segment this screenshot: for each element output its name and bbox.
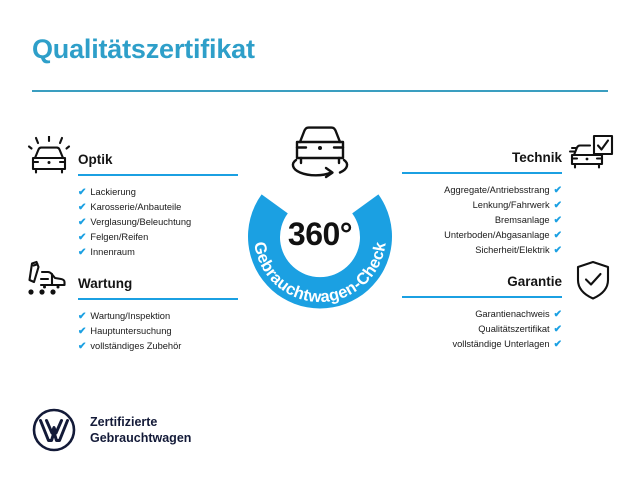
list-item: Bremsanlage✔ bbox=[402, 213, 562, 228]
check-icon: ✔ bbox=[78, 339, 86, 354]
list-item-label: Qualitätszertifikat bbox=[478, 324, 549, 334]
list-item-label: Felgen/Reifen bbox=[90, 232, 148, 242]
service-pen-car-icon bbox=[24, 260, 70, 302]
list-item: Unterboden/Abgasanlage✔ bbox=[402, 228, 562, 243]
list-item: ✔vollständiges Zubehör bbox=[78, 339, 238, 354]
section-title-garantie: Garantie bbox=[402, 274, 562, 290]
section-list-optik: ✔Lackierung ✔Karosserie/Anbauteile ✔Verg… bbox=[78, 185, 238, 260]
list-item: vollständige Unterlagen✔ bbox=[402, 337, 562, 352]
footer-brand: Zertifizierte Gebrauchtwagen bbox=[32, 408, 191, 452]
list-item: Lenkung/Fahrwerk✔ bbox=[402, 198, 562, 213]
list-item: ✔Felgen/Reifen bbox=[78, 230, 238, 245]
check-icon: ✔ bbox=[554, 213, 562, 228]
section-title-optik: Optik bbox=[78, 152, 238, 168]
section-wartung: Wartung ✔Wartung/Inspektion ✔Hauptunters… bbox=[78, 276, 238, 354]
list-item-label: vollständiges Zubehör bbox=[90, 341, 181, 351]
footer-text: Zertifizierte Gebrauchtwagen bbox=[90, 414, 191, 446]
list-item-label: Sicherheit/Elektrik bbox=[475, 245, 549, 255]
check-icon: ✔ bbox=[554, 337, 562, 352]
car-rotation-360-icon bbox=[283, 120, 357, 182]
list-item: Sicherheit/Elektrik✔ bbox=[402, 243, 562, 258]
section-rule-technik bbox=[402, 172, 562, 174]
check-icon: ✔ bbox=[78, 230, 86, 245]
list-item: Garantienachweis✔ bbox=[402, 307, 562, 322]
check-icon: ✔ bbox=[78, 309, 86, 324]
list-item-label: Bremsanlage bbox=[495, 215, 550, 225]
list-item: ✔Wartung/Inspektion bbox=[78, 309, 238, 324]
section-rule-optik bbox=[78, 174, 238, 176]
section-list-garantie: Garantienachweis✔ Qualitätszertifikat✔ v… bbox=[402, 307, 562, 352]
list-item: Qualitätszertifikat✔ bbox=[402, 322, 562, 337]
section-title-technik: Technik bbox=[402, 150, 562, 166]
list-item-label: Garantienachweis bbox=[475, 309, 549, 319]
check-icon: ✔ bbox=[78, 215, 86, 230]
section-rule-wartung bbox=[78, 298, 238, 300]
list-item-label: Karosserie/Anbauteile bbox=[90, 202, 181, 212]
section-technik: Technik Aggregate/Antriebsstrang✔ Lenkun… bbox=[402, 150, 562, 258]
list-item: ✔Lackierung bbox=[78, 185, 238, 200]
list-item: ✔Verglasung/Beleuchtung bbox=[78, 215, 238, 230]
car-front-lights-icon bbox=[26, 136, 72, 178]
list-item: Aggregate/Antriebsstrang✔ bbox=[402, 183, 562, 198]
section-rule-garantie bbox=[402, 296, 562, 298]
check-icon: ✔ bbox=[78, 245, 86, 260]
check-icon: ✔ bbox=[554, 243, 562, 258]
list-item-label: Verglasung/Beleuchtung bbox=[90, 217, 191, 227]
volkswagen-logo-icon bbox=[32, 408, 76, 452]
list-item-label: Hauptuntersuchung bbox=[90, 326, 171, 336]
section-optik: Optik ✔Lackierung ✔Karosserie/Anbauteile… bbox=[78, 152, 238, 260]
car-checkbox-icon bbox=[568, 134, 614, 176]
page-title: Qualitätszertifikat bbox=[32, 34, 255, 65]
list-item-label: Lackierung bbox=[90, 187, 135, 197]
list-item-label: Aggregate/Antriebsstrang bbox=[444, 185, 549, 195]
check-icon: ✔ bbox=[78, 324, 86, 339]
section-title-wartung: Wartung bbox=[78, 276, 238, 292]
list-item-label: Wartung/Inspektion bbox=[90, 311, 170, 321]
footer-line-2: Gebrauchtwagen bbox=[90, 430, 191, 446]
list-item-label: Innenraum bbox=[90, 247, 134, 257]
footer-line-1: Zertifizierte bbox=[90, 414, 191, 430]
check-icon: ✔ bbox=[554, 198, 562, 213]
check-icon: ✔ bbox=[554, 307, 562, 322]
list-item-label: Lenkung/Fahrwerk bbox=[473, 200, 550, 210]
section-garantie: Garantie Garantienachweis✔ Qualitätszert… bbox=[402, 274, 562, 352]
list-item: ✔Karosserie/Anbauteile bbox=[78, 200, 238, 215]
check-icon: ✔ bbox=[554, 228, 562, 243]
shield-check-icon bbox=[574, 260, 612, 302]
list-item-label: Unterboden/Abgasanlage bbox=[444, 230, 549, 240]
section-list-technik: Aggregate/Antriebsstrang✔ Lenkung/Fahrwe… bbox=[402, 183, 562, 258]
section-list-wartung: ✔Wartung/Inspektion ✔Hauptuntersuchung ✔… bbox=[78, 309, 238, 354]
list-item: ✔Innenraum bbox=[78, 245, 238, 260]
list-item: ✔Hauptuntersuchung bbox=[78, 324, 238, 339]
check-icon: ✔ bbox=[78, 185, 86, 200]
check-icon: ✔ bbox=[554, 322, 562, 337]
check-icon: ✔ bbox=[78, 200, 86, 215]
header-divider bbox=[32, 90, 608, 92]
check-icon: ✔ bbox=[554, 183, 562, 198]
list-item-label: vollständige Unterlagen bbox=[452, 339, 549, 349]
